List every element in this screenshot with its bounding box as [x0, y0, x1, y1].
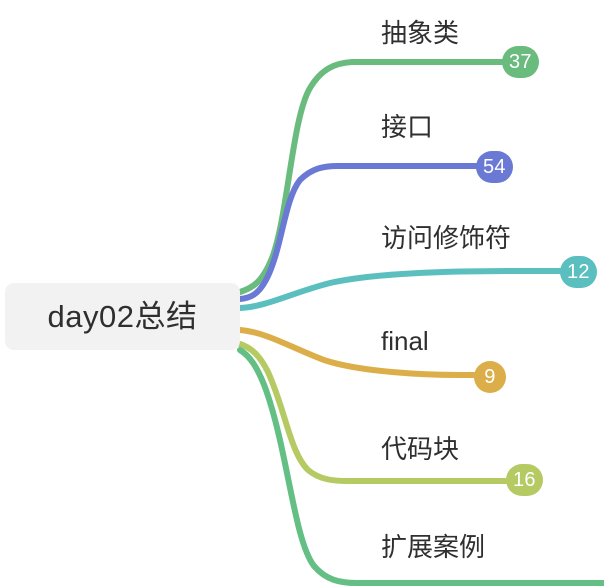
branch-label-code-block[interactable]: 代码块 — [381, 436, 459, 462]
badge-count-abstract-class: 37 — [509, 52, 532, 72]
badge-interface[interactable]: 54 — [476, 151, 513, 183]
branch-line-final — [240, 330, 490, 375]
badge-final[interactable]: 9 — [474, 361, 506, 393]
branch-label-final[interactable]: final — [381, 328, 429, 354]
branch-label-extension-case[interactable]: 扩展案例 — [381, 534, 485, 560]
badge-access-modifier[interactable]: 12 — [560, 256, 597, 288]
badge-count-code-block: 16 — [513, 470, 536, 490]
badge-code-block[interactable]: 16 — [506, 464, 543, 496]
badge-count-final: 9 — [484, 367, 495, 387]
branch-line-access-modifier — [240, 271, 576, 308]
mindmap-canvas: day02总结 抽象类 接口 访问修饰符 final 代码块 扩展案例 37 5… — [0, 0, 604, 588]
branch-label-access-modifier[interactable]: 访问修饰符 — [381, 225, 511, 251]
branch-label-abstract-class[interactable]: 抽象类 — [381, 20, 459, 46]
badge-count-access-modifier: 12 — [567, 262, 590, 282]
badge-abstract-class[interactable]: 37 — [502, 46, 539, 78]
branch-label-interface[interactable]: 接口 — [381, 114, 433, 140]
branch-line-abstract-class — [240, 62, 518, 292]
root-node[interactable]: day02总结 — [5, 283, 240, 350]
root-node-label: day02总结 — [48, 301, 198, 332]
badge-count-interface: 54 — [483, 157, 506, 177]
